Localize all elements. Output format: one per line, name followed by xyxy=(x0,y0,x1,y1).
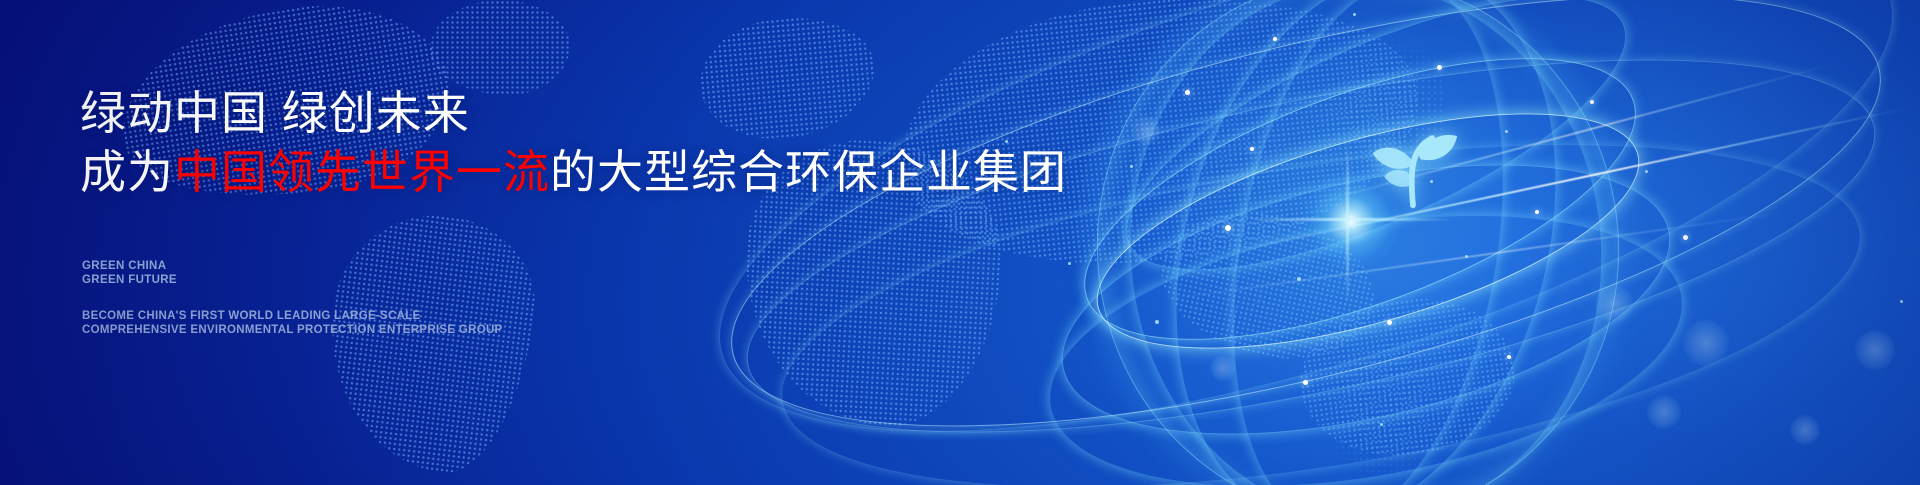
headline-line-1: 绿动中国 绿创未来 xyxy=(80,84,1067,143)
light-streak-3 xyxy=(1158,210,1792,301)
globe-rim xyxy=(1066,0,1650,485)
subtitle-line-2: COMPREHENSIVE ENVIRONMENTAL PROTECTION E… xyxy=(82,324,503,338)
tagline-line-1: GREEN CHINA xyxy=(82,260,177,274)
hex-texture-top xyxy=(1312,36,1442,196)
flare-beam-horizontal xyxy=(1249,218,1454,221)
light-flare-icon xyxy=(1303,173,1399,269)
light-streak-2 xyxy=(1294,63,1835,210)
particle xyxy=(1353,13,1356,16)
particle xyxy=(1465,255,1468,258)
sprout-leaf-icon xyxy=(1365,117,1461,213)
headline-line-2: 成为中国领先世界一流的大型综合环保企业集团 xyxy=(80,143,1067,202)
particle xyxy=(1297,277,1301,281)
particle xyxy=(1155,320,1159,324)
particle xyxy=(1387,320,1392,325)
bokeh-orb xyxy=(1855,330,1895,370)
globe-latitude-3 xyxy=(1073,65,1664,397)
particle xyxy=(1185,90,1190,95)
headline-highlight: 中国领先世界一流 xyxy=(174,146,550,198)
subtitle-line-1: BECOME CHINA'S FIRST WORLD LEADING LARGE… xyxy=(82,310,503,324)
particle xyxy=(1130,165,1133,168)
particle xyxy=(1645,170,1648,173)
bokeh-orb xyxy=(1210,355,1236,381)
headline-prefix: 成为 xyxy=(80,146,174,198)
particle xyxy=(1507,355,1511,359)
light-streak-1 xyxy=(1222,107,1907,254)
bokeh-orb xyxy=(1647,395,1681,429)
particle xyxy=(1900,300,1903,303)
map-region-oceania xyxy=(1290,286,1524,469)
hero-banner: 绿动中国 绿创未来 成为中国领先世界一流的大型综合环保企业集团 GREEN CH… xyxy=(0,0,1920,485)
particle xyxy=(1535,210,1539,214)
bokeh-orb xyxy=(1790,415,1820,445)
globe-meridian-1 xyxy=(1115,0,1618,485)
tagline: GREEN CHINA GREEN FUTURE xyxy=(82,260,177,287)
banner-copy: 绿动中国 绿创未来 成为中国领先世界一流的大型综合环保企业集团 GREEN CH… xyxy=(80,0,1080,485)
tagline-line-2: GREEN FUTURE xyxy=(82,274,177,288)
particle xyxy=(1273,37,1277,41)
headline: 绿动中国 绿创未来 成为中国领先世界一流的大型综合环保企业集团 xyxy=(80,84,1067,202)
bokeh-orb xyxy=(1131,115,1161,145)
globe-latitude-1 xyxy=(1092,0,1659,325)
particle xyxy=(1590,100,1594,104)
wireframe-globe-icon xyxy=(1035,0,1755,485)
hex-texture-mid xyxy=(1160,96,1310,216)
bokeh-orb xyxy=(1595,285,1633,323)
particle xyxy=(1505,130,1508,133)
particle xyxy=(1437,65,1442,70)
particle xyxy=(1380,423,1383,426)
particle xyxy=(1250,147,1254,151)
globe-meridian-3 xyxy=(1107,0,1624,485)
hex-texture-bottom xyxy=(1316,330,1441,485)
globe-latitude-4 xyxy=(1036,114,1695,485)
map-region-southeast-asia xyxy=(1148,194,1387,376)
globe-latitude-2 xyxy=(1050,0,1669,398)
globe-glow xyxy=(1075,0,1635,485)
flare-beam-vertical xyxy=(1346,139,1349,304)
particle xyxy=(1430,180,1433,183)
particle xyxy=(1683,235,1688,240)
particle xyxy=(1303,380,1308,385)
headline-suffix: 的大型综合环保企业集团 xyxy=(550,146,1067,198)
globe-meridian-2 xyxy=(1194,0,1542,485)
bokeh-orb xyxy=(1683,320,1729,366)
particle xyxy=(1225,225,1231,231)
subtitle: BECOME CHINA'S FIRST WORLD LEADING LARGE… xyxy=(82,310,503,337)
globe-latitude-5 xyxy=(1028,171,1704,485)
